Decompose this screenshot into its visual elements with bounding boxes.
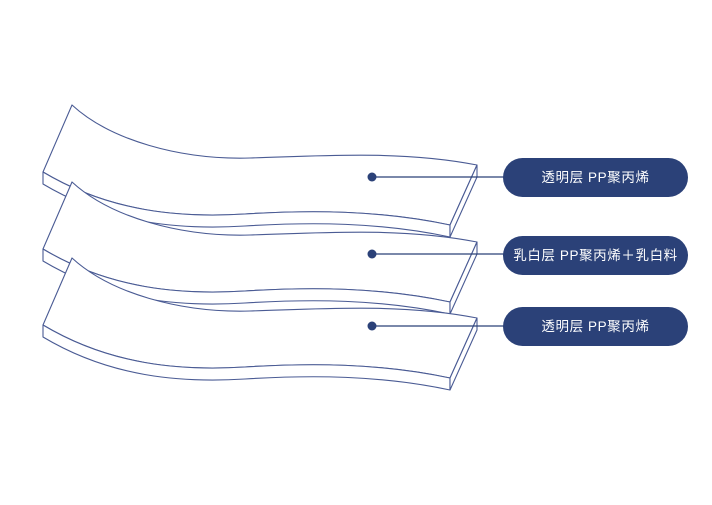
diagram-canvas: 透明层 PP聚丙烯 乳白层 PP聚丙烯＋乳白料 透明层 PP聚丙烯 [0, 0, 712, 505]
layer-label-middle[interactable]: 乳白层 PP聚丙烯＋乳白料 [503, 236, 688, 275]
layer-label-top-text: 透明层 PP聚丙烯 [541, 171, 649, 185]
layer-label-middle-text: 乳白层 PP聚丙烯＋乳白料 [513, 249, 678, 263]
connector-dot-icon [368, 250, 377, 259]
layer-label-top[interactable]: 透明层 PP聚丙烯 [503, 158, 688, 197]
layer-label-bottom-text: 透明层 PP聚丙烯 [541, 320, 649, 334]
layer-label-bottom[interactable]: 透明层 PP聚丙烯 [503, 307, 688, 346]
connector-dot-icon [368, 322, 377, 331]
connector-dot-icon [368, 173, 377, 182]
